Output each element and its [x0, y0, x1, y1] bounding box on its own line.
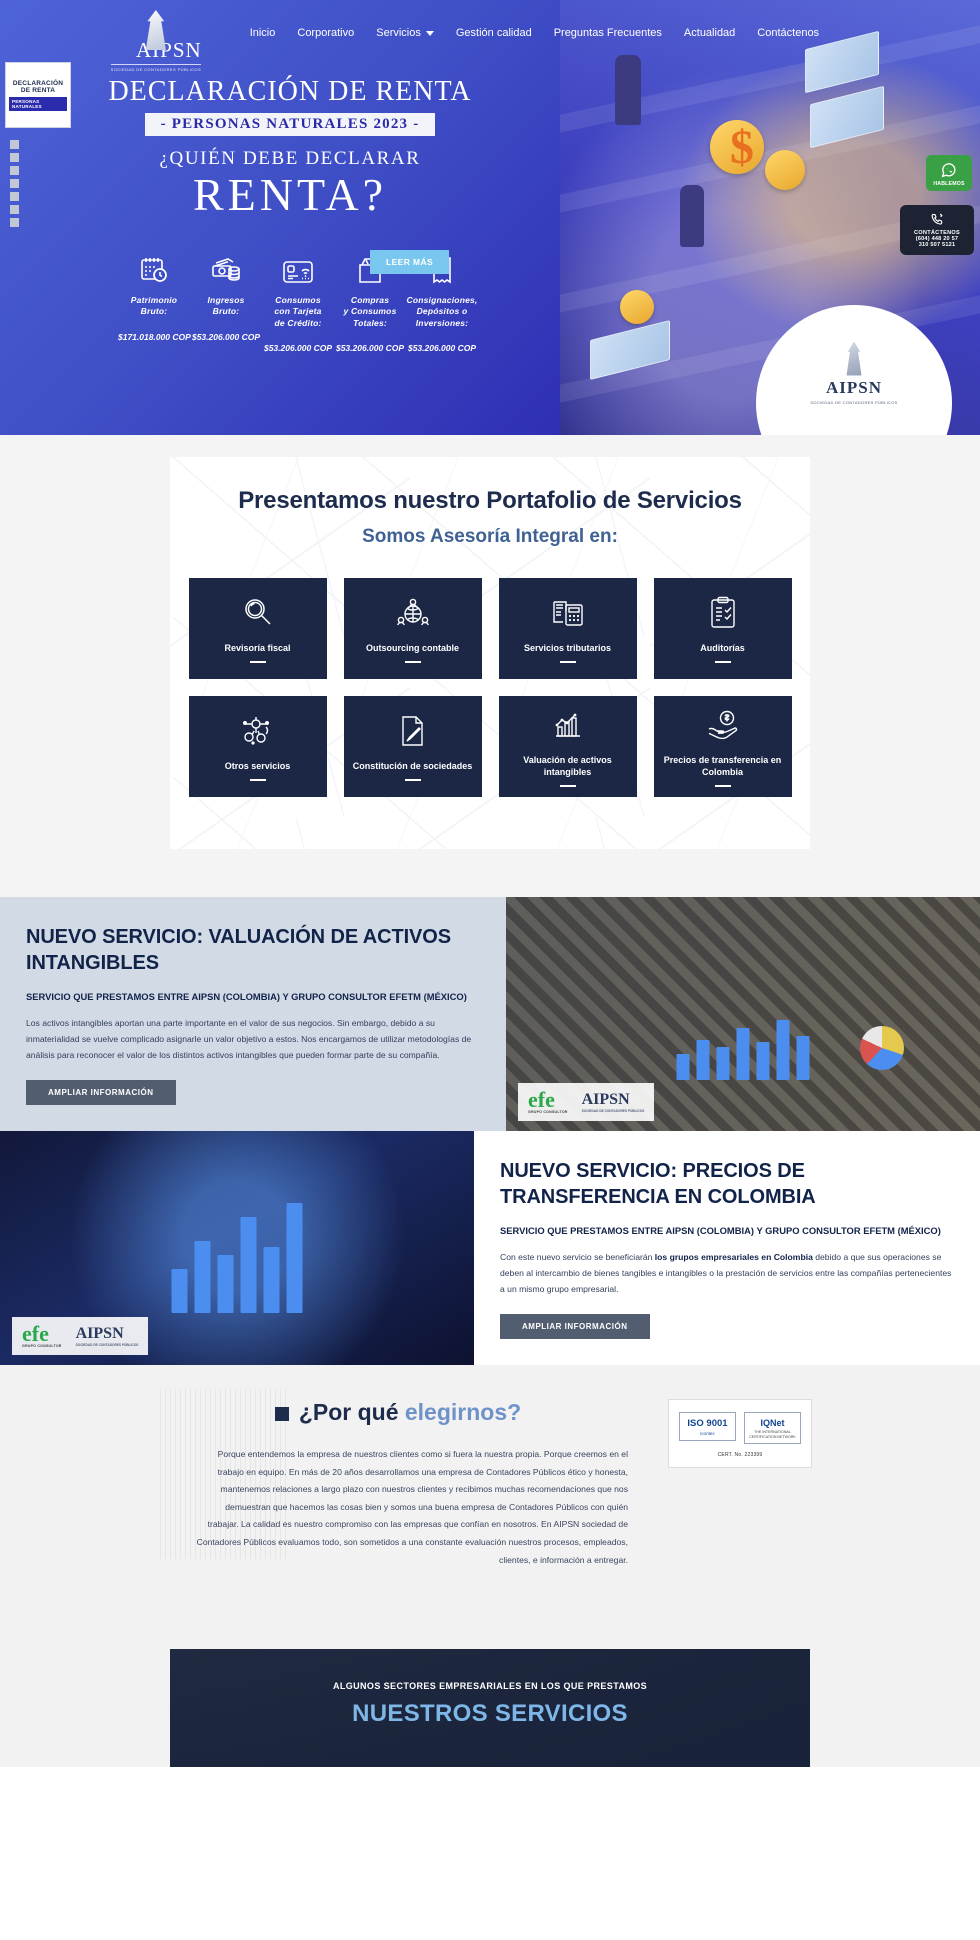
credit-card-icon — [262, 247, 334, 285]
brand-logo[interactable]: AIPSN SOCIEDAD DE CONTADORES PÚBLICOS — [110, 10, 202, 72]
body-pre: Con este nuevo servicio se beneficiarán — [500, 1252, 655, 1262]
slider-dot[interactable] — [10, 218, 19, 227]
main-navigation[interactable]: AIPSN SOCIEDAD DE CONTADORES PÚBLICOS In… — [0, 0, 980, 72]
stat-label: Consignaciones, Depósitos o Inversiones: — [406, 295, 478, 329]
photo-bar-chart — [677, 1020, 810, 1080]
slider-dots[interactable] — [10, 140, 19, 227]
certification-logos: ISO 9001 icontec IQNet THE INTERNATIONAL… — [679, 1412, 801, 1444]
sectors-banner: ALGUNOS SECTORES EMPRESARIALES EN LOS QU… — [170, 1649, 810, 1767]
photo-bar-chart — [172, 1203, 303, 1313]
slider-dot[interactable] — [10, 140, 19, 149]
service-label: Servicios tributarios — [524, 642, 611, 654]
stat-amount: $53.206.000 COP — [190, 332, 262, 342]
square-bullet-icon — [275, 1407, 289, 1421]
body-bold: los grupos empresariales en Colombia — [655, 1252, 813, 1262]
iso-label: ISO 9001 — [682, 1418, 733, 1429]
iqnet-sub: THE INTERNATIONAL CERTIFICATION NETWORK — [747, 1430, 798, 1439]
contact-float-panel[interactable]: CONTÁCTENOS (604) 448 20 57 310 507 5121 — [900, 205, 974, 255]
service-card-servicios-tributarios[interactable]: Servicios tributarios — [499, 578, 637, 679]
service-detail-subheading: SERVICIO QUE PRESTAMOS ENTRE AIPSN (COLO… — [26, 990, 480, 1004]
service-card-valuacion-activos[interactable]: Valuación de activos intangibles — [499, 696, 637, 797]
why-content: ¿Por qué elegirnos? Porque entendemos la… — [168, 1399, 628, 1569]
service-card-auditorias[interactable]: Auditorías — [654, 578, 792, 679]
service-detail-photo: efeGRUPO CONSULTOR AIPSNSOCIEDAD DE CONT… — [0, 1131, 474, 1365]
brand-tagline: SOCIEDAD DE CONTADORES PÚBLICOS — [111, 64, 201, 72]
nav-links[interactable]: Inicio Corporativo Servicios Gestión cal… — [250, 27, 819, 55]
ampliar-informacion-button[interactable]: AMPLIAR INFORMACIÓN — [26, 1080, 176, 1105]
cash-coins-icon — [190, 247, 262, 285]
service-rule — [715, 661, 731, 663]
portfolio-section: Presentamos nuestro Portafolio de Servic… — [0, 435, 980, 897]
sectors-section: ALGUNOS SECTORES EMPRESARIALES EN LOS QU… — [0, 1609, 980, 1767]
partner-logos: efeGRUPO CONSULTOR AIPSNSOCIEDAD DE CONT… — [518, 1083, 654, 1121]
service-detail-text: NUEVO SERVICIO: PRECIOS DE TRANSFERENCIA… — [474, 1131, 980, 1365]
hero-line-1: DECLARACIÓN DE RENTA — [10, 76, 570, 108]
service-rule — [250, 661, 266, 663]
hero-line-2: - PERSONAS NATURALES 2023 - — [145, 113, 436, 136]
service-detail-body: Con este nuevo servicio se beneficiarán … — [500, 1250, 954, 1298]
nav-item-contactenos[interactable]: Contáctenos — [757, 27, 819, 39]
brand-name: AIPSN — [136, 38, 202, 63]
efe-logo-sub: GRUPO CONSULTOR — [22, 1345, 62, 1349]
nav-item-corporativo[interactable]: Corporativo — [297, 27, 354, 39]
service-label: Revisoría fiscal — [224, 642, 290, 654]
why-title-pre: ¿Por qué — [299, 1399, 405, 1425]
growth-chart-icon — [552, 706, 584, 744]
contact-phone-2[interactable]: 310 507 5121 — [903, 242, 971, 248]
iqnet-label: IQNet — [747, 1418, 798, 1428]
why-title: ¿Por qué elegirnos? — [168, 1399, 628, 1426]
stat-amount: $53.206.000 COP — [406, 343, 478, 353]
hero-headline-group: DECLARACIÓN DE RENTA - PERSONAS NATURALE… — [10, 76, 570, 221]
service-detail-text: NUEVO SERVICIO: VALUACIÓN DE ACTIVOS INT… — [0, 897, 506, 1131]
leer-mas-button[interactable]: LEER MÁS — [370, 250, 449, 274]
service-detail-photo: efeGRUPO CONSULTOR AIPSNSOCIEDAD DE CONT… — [506, 897, 980, 1131]
service-label: Valuación de activos intangibles — [507, 754, 629, 778]
service-rule — [405, 779, 421, 781]
hero-banner: $ AIPSN SOCIEDAD DE CONTADORES PÚBLICOS … — [0, 0, 980, 435]
portfolio-card: Presentamos nuestro Portafolio de Servic… — [170, 457, 810, 849]
aipsn-logo-sub: SOCIEDAD DE CONTADORES PÚBLICOS — [582, 1109, 645, 1113]
efe-logo-sub: GRUPO CONSULTOR — [528, 1111, 568, 1115]
stat-label: Consumos con Tarjeta de Crédito: — [262, 295, 334, 329]
service-card-precios-transferencia[interactable]: Precios de transferencia en Colombia — [654, 696, 792, 797]
stat-label: Compras y Consumos Totales: — [334, 295, 406, 329]
stat-label: Ingresos Bruto: — [190, 295, 262, 318]
service-label: Outsourcing contable — [366, 642, 459, 654]
slider-dot[interactable] — [10, 192, 19, 201]
chevron-down-icon — [426, 31, 434, 36]
iso-badge: ISO 9001 icontec — [679, 1412, 736, 1441]
service-detail-body: Los activos intangibles aportan una part… — [26, 1016, 480, 1064]
iqnet-badge: IQNet THE INTERNATIONAL CERTIFICATION NE… — [744, 1412, 801, 1444]
services-grid: Revisoría fiscal Outsourcing contable — [170, 578, 810, 797]
sectors-kicker: ALGUNOS SECTORES EMPRESARIALES EN LOS QU… — [190, 1681, 790, 1691]
decal-line-1: DECLARACIÓN — [13, 80, 63, 87]
nav-item-gestion-calidad[interactable]: Gestión calidad — [456, 27, 532, 39]
stat-ingresos-bruto: Ingresos Bruto: $53.206.000 COP — [190, 247, 262, 353]
stat-patrimonio-bruto: Patrimonio Bruto: $171.018.000 COP — [118, 247, 190, 353]
service-rule — [560, 661, 576, 663]
service-label: Constitución de sociedades — [353, 760, 473, 772]
nav-servicios-label: Servicios — [376, 27, 421, 39]
service-rule — [715, 785, 731, 787]
slider-dot[interactable] — [10, 153, 19, 162]
service-card-otros-servicios[interactable]: Otros servicios — [189, 696, 327, 797]
ampliar-informacion-button[interactable]: AMPLIAR INFORMACIÓN — [500, 1314, 650, 1339]
service-rule — [250, 779, 266, 781]
certification-badge: ISO 9001 icontec IQNet THE INTERNATIONAL… — [668, 1399, 812, 1468]
hero-line-3: ¿QUIÉN DEBE DECLARAR — [10, 148, 570, 170]
aipsn-logo: AIPSNSOCIEDAD DE CONTADORES PÚBLICOS — [76, 1325, 139, 1347]
stat-amount: $171.018.000 COP — [118, 332, 190, 342]
aipsn-logo-sub: SOCIEDAD DE CONTADORES PÚBLICOS — [76, 1343, 139, 1347]
hero-stats-row: Patrimonio Bruto: $171.018.000 COP Ingre… — [0, 247, 560, 353]
photo-pie-chart — [860, 1026, 904, 1070]
org-nodes-icon — [241, 712, 275, 750]
stat-consumos-tarjeta: Consumos con Tarjeta de Crédito: $53.206… — [262, 247, 334, 353]
why-body: Porque entendemos la empresa de nuestros… — [168, 1446, 628, 1569]
service-detail-subheading: SERVICIO QUE PRESTAMOS ENTRE AIPSN (COLO… — [500, 1224, 954, 1238]
magnifier-icon — [241, 594, 275, 632]
efe-logo: efeGRUPO CONSULTOR — [22, 1323, 62, 1349]
decal-line-3: PERSONAS NATURALES — [9, 97, 67, 111]
nav-item-actualidad[interactable]: Actualidad — [684, 27, 735, 39]
slider-dot[interactable] — [10, 166, 19, 175]
nav-item-inicio[interactable]: Inicio — [250, 27, 276, 39]
badge-subtitle: SOCIEDAD DE CONTADORES PÚBLICOS — [810, 400, 897, 405]
stat-amount: $53.206.000 COP — [262, 343, 334, 353]
service-detail-precios: efeGRUPO CONSULTOR AIPSNSOCIEDAD DE CONT… — [0, 1131, 980, 1365]
decal-line-2: DE RENTA — [21, 87, 55, 94]
nav-item-preguntas-frecuentes[interactable]: Preguntas Frecuentes — [554, 27, 662, 39]
calculator-docs-icon — [551, 594, 585, 632]
service-card-outsourcing-contable[interactable]: Outsourcing contable — [344, 578, 482, 679]
document-pen-icon — [398, 712, 428, 750]
cert-number: CERT. No. 223399 — [679, 1452, 801, 1458]
stat-label: Patrimonio Bruto: — [118, 295, 190, 318]
nav-item-servicios[interactable]: Servicios — [376, 27, 434, 39]
service-label: Otros servicios — [225, 760, 291, 772]
badge-title: AIPSN — [826, 378, 882, 398]
aipsn-logo-mark — [837, 342, 871, 376]
service-detail-heading: NUEVO SERVICIO: VALUACIÓN DE ACTIVOS INT… — [26, 925, 480, 976]
efe-logo: efeGRUPO CONSULTOR — [528, 1089, 568, 1115]
clipboard-check-icon — [707, 594, 739, 632]
service-rule — [560, 785, 576, 787]
stat-amount: $53.206.000 COP — [334, 343, 406, 353]
whatsapp-label: HABLEMOS — [928, 181, 970, 187]
network-people-icon — [396, 594, 430, 632]
hand-dollar-icon — [706, 706, 740, 744]
service-detail-valuacion: NUEVO SERVICIO: VALUACIÓN DE ACTIVOS INT… — [0, 897, 980, 1131]
sectors-title: NUESTROS SERVICIOS — [190, 1700, 790, 1728]
whatsapp-icon — [940, 161, 958, 179]
calendar-clock-icon — [118, 247, 190, 285]
slider-dot[interactable] — [10, 205, 19, 214]
portfolio-subtitle: Somos Asesoría Integral en: — [170, 526, 810, 548]
hero-line-4: RENTA? — [10, 168, 570, 221]
service-card-revisoria-fiscal[interactable]: Revisoría fiscal — [189, 578, 327, 679]
service-label: Precios de transferencia en Colombia — [662, 754, 784, 778]
why-title-accent: elegirnos? — [405, 1399, 521, 1425]
iso-org: icontec — [682, 1431, 733, 1436]
aipsn-logo: AIPSNSOCIEDAD DE CONTADORES PÚBLICOS — [582, 1091, 645, 1113]
portfolio-title: Presentamos nuestro Portafolio de Servic… — [170, 487, 810, 515]
service-card-constitucion-sociedades[interactable]: Constitución de sociedades — [344, 696, 482, 797]
why-choose-us-section: ¿Por qué elegirnos? Porque entendemos la… — [0, 1365, 980, 1609]
slider-dot[interactable] — [10, 179, 19, 188]
service-label: Auditorías — [700, 642, 745, 654]
whatsapp-float-button[interactable]: HABLEMOS — [926, 155, 972, 191]
phone-icon — [930, 212, 945, 227]
service-rule — [405, 661, 421, 663]
partner-logos: efeGRUPO CONSULTOR AIPSNSOCIEDAD DE CONT… — [12, 1317, 148, 1355]
service-detail-heading: NUEVO SERVICIO: PRECIOS DE TRANSFERENCIA… — [500, 1159, 954, 1210]
